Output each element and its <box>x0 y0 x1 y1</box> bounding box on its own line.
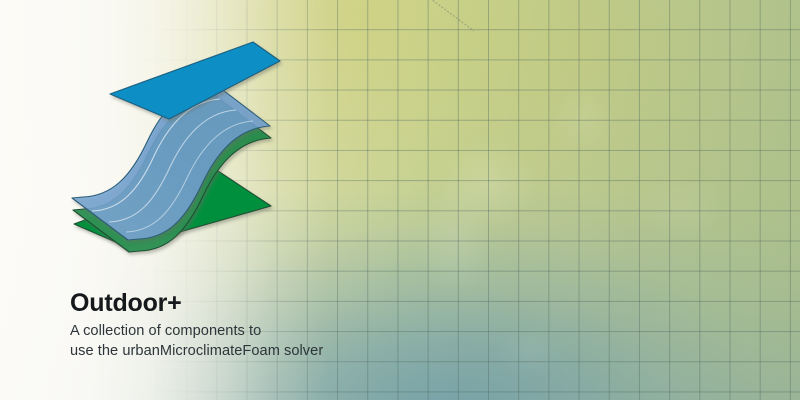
page-subtitle: A collection of components to use the ur… <box>70 322 490 361</box>
outdoor-plus-banner: Outdoor+ A collection of components to u… <box>0 0 800 400</box>
logo-stacked-surfaces-icon <box>68 34 298 264</box>
banner-text-block: Outdoor+ A collection of components to u… <box>70 288 490 361</box>
diagonal-guide-line <box>427 0 474 31</box>
page-title: Outdoor+ <box>70 288 490 318</box>
